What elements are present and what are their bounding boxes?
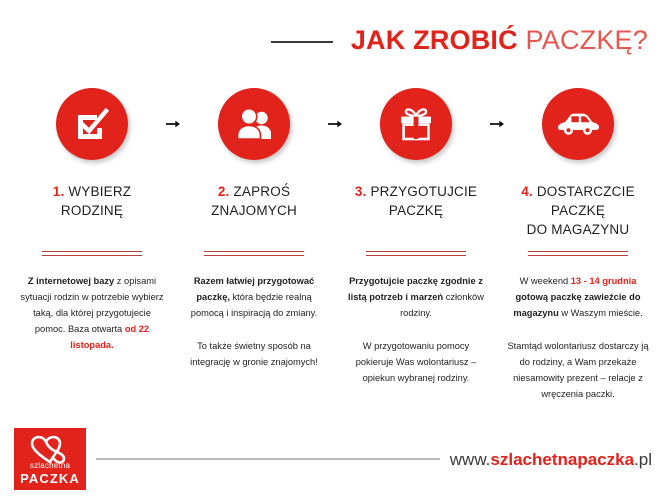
page-title: JAK ZROBIĆ PACZKĘ?	[351, 27, 648, 54]
url-name: szlachetnapaczka	[490, 450, 634, 469]
step-2-heading: 2. ZAPROŚ ZNAJOMYCH	[211, 182, 297, 220]
car-icon	[557, 110, 599, 138]
szlachetna-paczka-logo[interactable]: szlachetna PACZKA	[14, 428, 86, 490]
column-2-paragraph-1: Razem łatwiej przygotować paczkę, która …	[181, 274, 327, 322]
column-spacer-3	[490, 251, 504, 403]
step-4-heading: 4. DOSTARCZCIE PACZKĘ DO MAGAZYNU	[521, 182, 635, 239]
arrow-right-icon-3	[490, 115, 504, 133]
step-2: 2. ZAPROŚ ZNAJOMYCH	[180, 88, 328, 220]
column-spacer-1	[166, 251, 180, 403]
step-1: 1. WYBIERZ RODZINĘ	[18, 88, 166, 220]
header-rule	[271, 41, 333, 43]
column-divider-3	[366, 251, 466, 256]
column-4-paragraph-2: Stamtąd wolontariusz dostarczy ją do rod…	[505, 339, 651, 403]
step-4-number: 4.	[521, 184, 533, 199]
step-2-circle	[218, 88, 290, 160]
step-1-number: 1.	[53, 184, 65, 199]
step-1-circle	[56, 88, 128, 160]
text-column-4: W weekend 13 - 14 grudnia gotową paczkę …	[504, 251, 652, 403]
column-3-paragraph-1: Przygotujcie paczkę zgodnie z listą potr…	[343, 274, 489, 322]
step-4-circle	[542, 88, 614, 160]
step-1-heading: 1. WYBIERZ RODZINĘ	[53, 182, 132, 220]
checkbox-check-icon	[73, 105, 111, 143]
step-3: 3. PRZYGOTUJCIE PACZKĘ	[342, 88, 490, 220]
step-4-label: DOSTARCZCIE PACZKĘ DO MAGAZYNU	[527, 184, 635, 237]
column-2-paragraph-2: To także świetny sposób na integrację w …	[181, 339, 327, 371]
steps-row: 1. WYBIERZ RODZINĘ 2. ZAPROŚ ZNAJOMYCH	[18, 88, 654, 239]
step-3-label: PRZYGOTUJCIE PACZKĘ	[367, 184, 478, 218]
column-divider-4	[528, 251, 628, 256]
page-footer: szlachetna PACZKA www.szlachetnapaczka.p…	[0, 428, 672, 490]
arrow-right-icon-1	[166, 115, 180, 133]
gift-box-icon	[397, 105, 435, 143]
two-people-icon	[235, 107, 273, 141]
column-4-paragraph-1: W weekend 13 - 14 grudnia gotową paczkę …	[505, 274, 651, 322]
url-prefix: www.	[450, 450, 491, 469]
website-url[interactable]: www.szlachetnapaczka.pl	[450, 451, 658, 468]
text-columns: Z internetowej bazy z opisami sytuacji r…	[18, 251, 654, 403]
step-3-circle	[380, 88, 452, 160]
text-column-3: Przygotujcie paczkę zgodnie z listą potr…	[342, 251, 490, 403]
step-2-number: 2.	[218, 184, 230, 199]
text-column-2: Razem łatwiej przygotować paczkę, która …	[180, 251, 328, 403]
logo-line-2: PACZKA	[20, 472, 80, 485]
column-3-paragraph-2: W przygotowaniu pomocy pokieruje Was wol…	[343, 339, 489, 387]
page-header: JAK ZROBIĆ PACZKĘ?	[0, 20, 672, 60]
footer-rule	[96, 458, 440, 460]
step-3-number: 3.	[355, 184, 367, 199]
text-column-1: Z internetowej bazy z opisami sytuacji r…	[18, 251, 166, 403]
column-divider-1	[42, 251, 142, 256]
column-1-paragraph-1: Z internetowej bazy z opisami sytuacji r…	[19, 274, 165, 354]
step-3-heading: 3. PRZYGOTUJCIE PACZKĘ	[355, 182, 477, 220]
heart-icon	[27, 433, 73, 470]
page-title-bold: JAK ZROBIĆ	[351, 25, 518, 55]
column-spacer-2	[328, 251, 342, 403]
url-suffix: .pl	[634, 450, 652, 469]
column-divider-2	[204, 251, 304, 256]
arrow-right-icon-2	[328, 115, 342, 133]
step-4: 4. DOSTARCZCIE PACZKĘ DO MAGAZYNU	[504, 88, 652, 239]
page-title-light: PACZKĘ?	[526, 25, 648, 55]
step-1-label: WYBIERZ RODZINĘ	[61, 184, 131, 218]
